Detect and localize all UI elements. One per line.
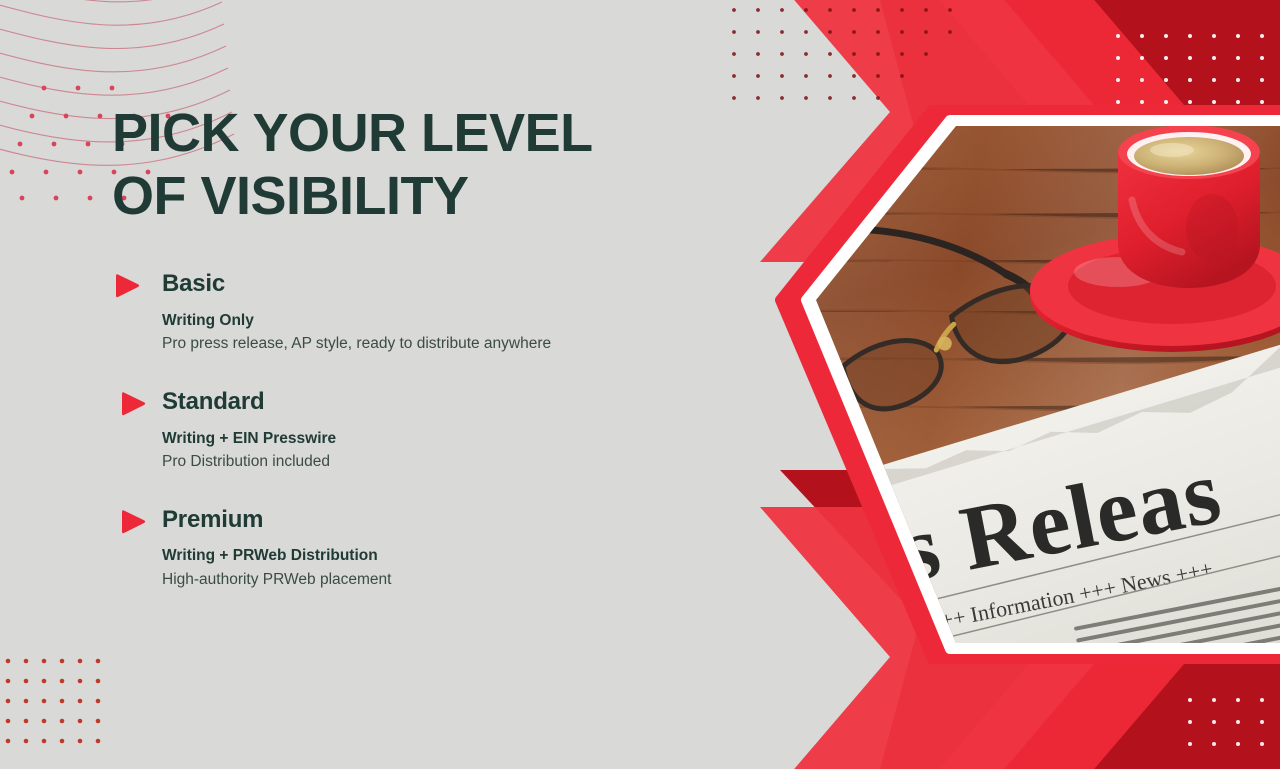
tier-feature: Writing + EIN Presswire [162,430,712,449]
tier-item-premium[interactable]: Premium Writing + PRWeb Distribution Hig… [112,507,712,591]
tier-description: Pro Distribution included [162,452,712,473]
tier-name: Basic [162,271,712,297]
tier-name: Standard [162,389,712,415]
tier-feature: Writing Only [162,312,712,331]
page-title: PICK YOUR LEVEL OF VISIBILITY [112,102,712,227]
decoration-bottom-left [0,649,170,759]
tier-feature: Writing + PRWeb Distribution [162,547,712,566]
tier-description: Pro press release, AP style, ready to di… [162,334,712,355]
play-triangle-icon [112,273,142,299]
tier-list: Basic Writing Only Pro press release, AP… [112,271,712,591]
tier-item-basic[interactable]: Basic Writing Only Pro press release, AP… [112,271,712,355]
play-triangle-icon [118,509,148,535]
slide-canvas: ess Releas +++ News +++ Information +++ … [0,0,1280,769]
tier-description: High-authority PRWeb placement [162,570,712,591]
play-triangle-icon [118,391,148,417]
content-column: PICK YOUR LEVEL OF VISIBILITY Basic Writ… [112,102,712,591]
artwork-panel: ess Releas +++ News +++ Information +++ … [720,0,1280,769]
tier-item-standard[interactable]: Standard Writing + EIN Presswire Pro Dis… [112,389,712,473]
tier-name: Premium [162,507,712,533]
